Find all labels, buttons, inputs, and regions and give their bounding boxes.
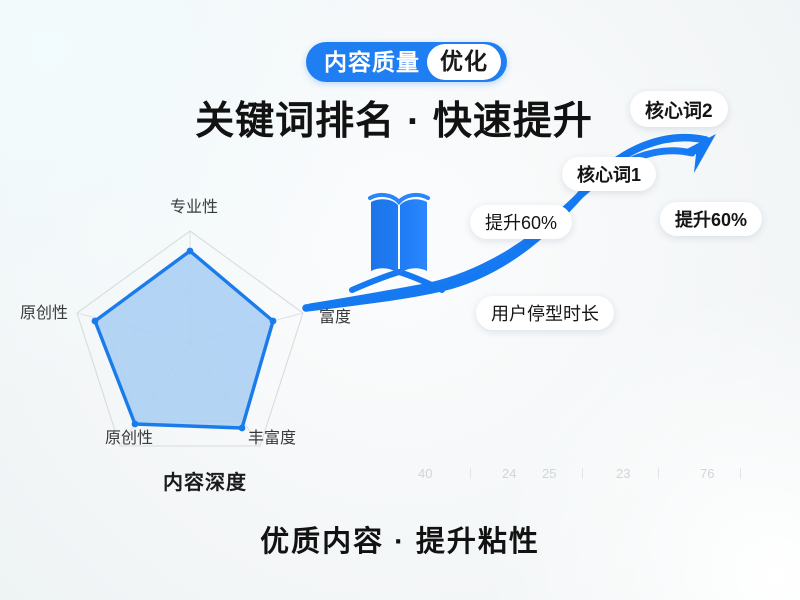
axis-tick-number: 24 (502, 466, 516, 481)
status-badge[interactable]: 内容质量 优化 (306, 42, 507, 82)
axis-tick-number: 40 (418, 466, 432, 481)
radar-chart: 专业性 富度 丰富度 原创性 原创性 (22, 185, 382, 465)
axis-tick-number: 23 (616, 466, 630, 481)
axis-tick-number: 25 (542, 466, 556, 481)
poster-canvas: 专业性 富度 丰富度 原创性 原创性 内容质量 优化 关键词排名 · 快速提升 … (0, 0, 800, 600)
pill-core-keyword-2[interactable]: 核心词2 (630, 91, 728, 127)
radar-label-4: 原创性 (20, 299, 68, 323)
pill-core-keyword-1[interactable]: 核心词1 (562, 157, 656, 191)
badge-chip: 优化 (427, 44, 501, 80)
radar-label-1: 富度 (319, 303, 351, 327)
axis-tick-row: 4024252376 (410, 466, 760, 488)
radar-series-area (95, 251, 273, 428)
open-book-icon (367, 186, 431, 282)
axis-tick-mark (582, 468, 583, 479)
axis-tick-mark (658, 468, 659, 479)
badge-label: 内容质量 (324, 42, 420, 82)
axis-tick-mark (740, 468, 741, 479)
footer-title: 优质内容 · 提升粘性 (0, 518, 800, 560)
radar-label-2: 丰富度 (248, 424, 296, 448)
pill-uplift-right[interactable]: 提升60% (660, 202, 762, 236)
pill-uplift-left[interactable]: 提升60% (470, 205, 572, 239)
pill-dwell-time[interactable]: 用户停型时长 (476, 296, 614, 330)
radar-label-3: 原创性 (105, 424, 153, 448)
radar-label-0: 专业性 (170, 193, 218, 217)
axis-tick-number: 76 (700, 466, 714, 481)
chart-caption: 内容深度 (163, 466, 247, 495)
axis-tick-mark (470, 468, 471, 479)
